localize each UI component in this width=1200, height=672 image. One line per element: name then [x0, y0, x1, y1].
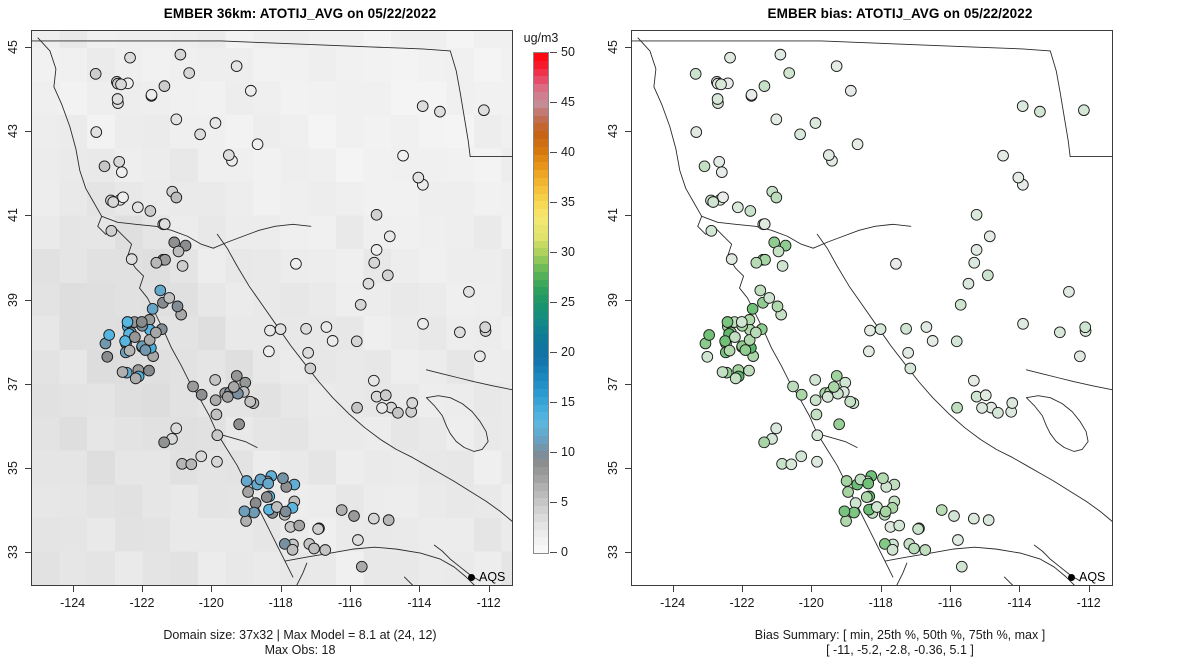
colorbar-tick: [550, 102, 557, 103]
aqs-station-marker[interactable]: [130, 373, 141, 384]
aqs-station-marker[interactable]: [454, 327, 465, 338]
aqs-station-marker[interactable]: [159, 219, 170, 230]
aqs-station-marker[interactable]: [108, 197, 119, 208]
aqs-station-marker[interactable]: [117, 367, 128, 378]
aqs-station-marker[interactable]: [1064, 286, 1075, 297]
colorbar-tick-label: 20: [561, 345, 575, 359]
aqs-station-marker[interactable]: [407, 398, 418, 409]
colorbar-cell: [534, 280, 548, 288]
aqs-station-marker[interactable]: [913, 524, 924, 535]
aqs-station-marker[interactable]: [352, 402, 363, 413]
aqs-station-marker[interactable]: [294, 520, 305, 531]
aqs-station-marker[interactable]: [1018, 318, 1029, 329]
aqs-station-marker[interactable]: [196, 389, 207, 400]
aqs-station-marker[interactable]: [164, 293, 175, 304]
aqs-station-marker[interactable]: [261, 492, 272, 503]
aqs-station-marker[interactable]: [773, 246, 784, 257]
aqs-station-marker[interactable]: [122, 317, 133, 328]
aqs-station-marker[interactable]: [971, 245, 982, 256]
aqs-station-marker[interactable]: [1017, 101, 1028, 112]
colorbar-cell: [534, 498, 548, 506]
x-tick-label: -118: [869, 596, 893, 610]
aqs-station-marker[interactable]: [998, 150, 1009, 161]
y-tick: [25, 384, 31, 385]
colorbar-cell: [534, 108, 548, 116]
aqs-station-marker[interactable]: [775, 49, 786, 60]
x-tick: [1089, 586, 1090, 592]
aqs-station-marker[interactable]: [132, 202, 143, 213]
aqs-station-marker[interactable]: [234, 419, 245, 430]
aqs-station-marker[interactable]: [384, 231, 395, 242]
panel-model: EMBER 36km: ATOTIJ_AVG on 05/22/2022: [0, 0, 600, 672]
colorbar-cell: [534, 147, 548, 155]
aqs-station-marker[interactable]: [878, 473, 889, 484]
aqs-station-marker[interactable]: [309, 543, 320, 554]
aqs-station-marker[interactable]: [725, 52, 736, 63]
aqs-station-marker[interactable]: [380, 390, 391, 401]
y-tick: [25, 131, 31, 132]
aqs-station-marker[interactable]: [355, 299, 366, 310]
aqs-station-marker[interactable]: [353, 535, 364, 546]
colorbar-cell: [534, 319, 548, 327]
aqs-station-marker[interactable]: [116, 167, 127, 178]
y-tick: [625, 47, 631, 48]
aqs-station-marker[interactable]: [241, 476, 252, 487]
aqs-station-marker[interactable]: [812, 456, 823, 467]
aqs-station-marker[interactable]: [369, 257, 380, 268]
aqs-station-marker[interactable]: [744, 365, 755, 376]
x-tick-label: -118: [269, 596, 293, 610]
aqs-station-marker[interactable]: [435, 106, 446, 117]
aqs-station-marker[interactable]: [691, 127, 702, 138]
aqs-station-marker[interactable]: [125, 52, 136, 63]
aqs-station-marker[interactable]: [195, 129, 206, 140]
aqs-station-marker[interactable]: [841, 516, 852, 527]
aqs-station-marker[interactable]: [903, 347, 914, 358]
aqs-station-marker[interactable]: [211, 409, 222, 420]
aqs-station-marker[interactable]: [464, 286, 475, 297]
x-tick-label: -120: [199, 596, 224, 610]
aqs-station-marker[interactable]: [263, 346, 274, 357]
aqs-station-marker[interactable]: [747, 303, 758, 314]
aqs-station-marker[interactable]: [751, 327, 762, 338]
colorbar-cell: [534, 272, 548, 280]
aqs-station-marker[interactable]: [321, 322, 332, 333]
aqs-station-marker[interactable]: [823, 150, 834, 161]
aqs-station-marker[interactable]: [250, 498, 261, 509]
x-tick-label: -124: [660, 596, 685, 610]
aqs-station-marker[interactable]: [716, 79, 727, 90]
aqs-station-marker[interactable]: [702, 351, 713, 362]
aqs-station-marker[interactable]: [865, 325, 876, 336]
aqs-station-marker[interactable]: [905, 363, 916, 374]
aqs-station-marker[interactable]: [811, 409, 822, 420]
aqs-station-marker[interactable]: [810, 395, 821, 406]
aqs-station-marker[interactable]: [880, 506, 891, 517]
aqs-station-marker[interactable]: [222, 391, 233, 402]
colorbar-cell: [534, 326, 548, 334]
aqs-station-marker[interactable]: [706, 225, 717, 236]
aqs-station-marker[interactable]: [843, 487, 854, 498]
aqs-station-marker[interactable]: [772, 301, 783, 312]
aqs-station-marker[interactable]: [245, 85, 256, 96]
aqs-station-markers-model[interactable]: [32, 31, 512, 585]
colorbar-cell: [534, 545, 548, 553]
aqs-station-marker[interactable]: [952, 402, 963, 413]
aqs-station-marker[interactable]: [210, 375, 221, 386]
aqs-station-marker[interactable]: [291, 258, 302, 269]
aqs-station-marker[interactable]: [320, 545, 331, 556]
aqs-station-marker[interactable]: [699, 161, 710, 172]
aqs-station-marker[interactable]: [712, 94, 723, 105]
aqs-station-marker[interactable]: [371, 245, 382, 256]
aqs-station-marker[interactable]: [852, 139, 863, 150]
aqs-station-marker[interactable]: [828, 382, 839, 393]
colorbar-tick: [550, 302, 557, 303]
aqs-station-marker[interactable]: [759, 219, 770, 230]
y-tick: [25, 552, 31, 553]
aqs-station-marker[interactable]: [1007, 398, 1018, 409]
aqs-station-marker[interactable]: [212, 456, 223, 467]
colorbar-tick-label: 30: [561, 245, 575, 259]
aqs-station-marker[interactable]: [159, 81, 170, 92]
aqs-station-marker[interactable]: [155, 285, 166, 296]
colorbar-model-title: ug/m3: [524, 31, 559, 45]
aqs-station-marker[interactable]: [196, 451, 207, 462]
aqs-station-marker[interactable]: [891, 258, 902, 269]
aqs-station-marker[interactable]: [151, 327, 162, 338]
y-tick-label: 43: [6, 124, 20, 138]
aqs-station-marker[interactable]: [736, 317, 747, 328]
aqs-station-marker[interactable]: [480, 322, 491, 333]
x-tick: [281, 586, 282, 592]
aqs-station-marker[interactable]: [249, 507, 260, 518]
aqs-station-marker[interactable]: [909, 543, 920, 554]
aqs-station-marker[interactable]: [140, 345, 151, 356]
aqs-station-marker[interactable]: [349, 511, 360, 522]
aqs-station-marker[interactable]: [301, 323, 312, 334]
aqs-station-marker[interactable]: [977, 403, 988, 414]
aqs-station-marker[interactable]: [136, 317, 147, 328]
aqs-station-marker[interactable]: [1013, 172, 1024, 183]
aqs-station-marker[interactable]: [936, 505, 947, 516]
aqs-station-marker[interactable]: [722, 317, 733, 328]
aqs-station-marker[interactable]: [784, 68, 795, 79]
aqs-station-marker[interactable]: [708, 197, 719, 208]
aqs-station-marker[interactable]: [812, 430, 823, 441]
aqs-station-marker[interactable]: [151, 257, 162, 268]
aqs-station-marker[interactable]: [849, 507, 860, 518]
colorbar-cell: [534, 295, 548, 303]
x-tick: [811, 586, 812, 592]
y-tick: [625, 468, 631, 469]
aqs-station-marker[interactable]: [875, 324, 886, 335]
aqs-station-marker[interactable]: [984, 231, 995, 242]
colorbar-cell: [534, 381, 548, 389]
aqs-station-marker[interactable]: [239, 506, 250, 517]
aqs-station-marker[interactable]: [969, 257, 980, 268]
aqs-station-marker[interactable]: [863, 478, 874, 489]
aqs-station-marker[interactable]: [243, 487, 254, 498]
aqs-station-marker[interactable]: [368, 375, 379, 386]
aqs-station-marker[interactable]: [730, 373, 741, 384]
plot-area-bias: [631, 30, 1113, 586]
aqs-station-marker[interactable]: [278, 473, 289, 484]
aqs-station-marker[interactable]: [146, 89, 157, 100]
aqs-station-marker[interactable]: [188, 381, 199, 392]
aqs-station-marker[interactable]: [418, 318, 429, 329]
aqs-station-marker[interactable]: [99, 161, 110, 172]
aqs-station-marker[interactable]: [1035, 106, 1046, 117]
aqs-station-marker[interactable]: [755, 285, 766, 296]
aqs-station-marker[interactable]: [116, 79, 127, 90]
aqs-station-marker[interactable]: [963, 278, 974, 289]
colorbar-cell: [534, 483, 548, 491]
aqs-station-marker[interactable]: [368, 513, 379, 524]
aqs-station-marker[interactable]: [971, 209, 982, 220]
aqs-station-marker[interactable]: [303, 347, 314, 358]
aqs-station-marker[interactable]: [771, 192, 782, 203]
aqs-station-marker[interactable]: [118, 192, 129, 203]
aqs-station-marker[interactable]: [478, 105, 489, 116]
plot-area-model: [31, 30, 513, 586]
aqs-station-marker[interactable]: [980, 390, 991, 401]
aqs-station-marker[interactable]: [822, 391, 833, 402]
aqs-station-marker[interactable]: [363, 278, 374, 289]
y-tick-label: 33: [606, 545, 620, 559]
aqs-station-marker[interactable]: [953, 535, 964, 546]
aqs-station-marker[interactable]: [796, 451, 807, 462]
aqs-station-marker[interactable]: [983, 515, 994, 526]
aqs-station-marker[interactable]: [90, 68, 101, 79]
aqs-station-marker[interactable]: [382, 270, 393, 281]
colorbar-cell: [534, 491, 548, 499]
aqs-station-marker[interactable]: [949, 511, 960, 522]
caption-model-line1: Domain size: 37x32 | Max Model = 8.1 at …: [0, 628, 600, 643]
aqs-station-marker[interactable]: [1054, 327, 1065, 338]
aqs-station-marker[interactable]: [716, 167, 727, 178]
aqs-station-marker[interactable]: [212, 430, 223, 441]
aqs-station-marker[interactable]: [144, 365, 155, 376]
aqs-station-marker[interactable]: [91, 127, 102, 138]
aqs-station-marker[interactable]: [356, 561, 367, 572]
aqs-station-marker[interactable]: [861, 492, 872, 503]
aqs-station-marker[interactable]: [173, 246, 184, 257]
aqs-station-marker[interactable]: [751, 257, 762, 268]
x-tick: [1019, 586, 1020, 592]
colorbar-tick-label: 5: [561, 495, 568, 509]
aqs-station-marker[interactable]: [982, 270, 993, 281]
colorbar-cell: [534, 459, 548, 467]
aqs-station-marker[interactable]: [956, 561, 967, 572]
aqs-station-marker[interactable]: [124, 345, 135, 356]
caption-bias: Bias Summary: [ min, 25th %, 50th %, 75t…: [600, 628, 1200, 658]
aqs-station-marker[interactable]: [955, 299, 966, 310]
y-tick-label: 45: [606, 40, 620, 54]
aqs-station-marker[interactable]: [106, 225, 117, 236]
colorbar-cell: [534, 139, 548, 147]
x-tick: [211, 586, 212, 592]
aqs-station-marker[interactable]: [245, 396, 256, 407]
aqs-station-marker[interactable]: [102, 351, 113, 362]
y-tick-label: 39: [6, 293, 20, 307]
aqs-station-marker[interactable]: [726, 254, 737, 265]
aqs-station-marker[interactable]: [1078, 105, 1089, 116]
colorbar-cell: [534, 436, 548, 444]
colorbar-tick-label: 35: [561, 195, 575, 209]
aqs-station-marker[interactable]: [175, 49, 186, 60]
aqs-station-marker[interactable]: [894, 520, 905, 531]
aqs-station-marker[interactable]: [901, 323, 912, 334]
aqs-station-marker[interactable]: [845, 396, 856, 407]
aqs-station-marker[interactable]: [831, 61, 842, 72]
colorbar-tick-label: 45: [561, 95, 575, 109]
aqs-station-marker[interactable]: [745, 206, 756, 217]
colorbar-cell: [534, 397, 548, 405]
aqs-station-marker[interactable]: [850, 498, 861, 509]
aqs-station-marker[interactable]: [845, 85, 856, 96]
aqs-station-marker[interactable]: [112, 94, 123, 105]
aqs-station-marker[interactable]: [186, 459, 197, 470]
colorbar-cell: [534, 506, 548, 514]
aqs-station-marker[interactable]: [114, 156, 125, 167]
aqs-station-markers-bias[interactable]: [632, 31, 1112, 585]
aqs-station-marker[interactable]: [993, 407, 1004, 418]
aqs-station-marker[interactable]: [786, 459, 797, 470]
colorbar-cell: [534, 76, 548, 84]
aqs-station-marker[interactable]: [147, 303, 158, 314]
aqs-station-marker[interactable]: [920, 545, 931, 556]
y-tick: [625, 300, 631, 301]
aqs-station-marker[interactable]: [839, 506, 850, 517]
aqs-station-marker[interactable]: [130, 332, 141, 343]
x-tick: [673, 586, 674, 592]
aqs-station-marker[interactable]: [417, 101, 428, 112]
aqs-station-marker[interactable]: [280, 506, 291, 517]
aqs-station-marker[interactable]: [184, 68, 195, 79]
y-tick: [625, 552, 631, 553]
aqs-station-marker[interactable]: [327, 336, 338, 347]
aqs-station-marker[interactable]: [413, 172, 424, 183]
aqs-station-marker[interactable]: [714, 156, 725, 167]
aqs-station-marker[interactable]: [746, 89, 757, 100]
aqs-station-marker[interactable]: [210, 395, 221, 406]
colorbar-cell: [534, 451, 548, 459]
colorbar-tick-label: 40: [561, 145, 575, 159]
aqs-station-marker[interactable]: [717, 367, 728, 378]
aqs-station-marker[interactable]: [313, 524, 324, 535]
y-tick-label: 35: [6, 461, 20, 475]
aqs-station-marker[interactable]: [171, 423, 182, 434]
aqs-station-marker[interactable]: [759, 81, 770, 92]
aqs-station-marker[interactable]: [771, 114, 782, 125]
aqs-station-marker[interactable]: [690, 68, 701, 79]
aqs-station-marker[interactable]: [393, 407, 404, 418]
aqs-station-marker[interactable]: [732, 202, 743, 213]
aqs-station-marker[interactable]: [777, 261, 788, 272]
aqs-station-marker[interactable]: [788, 381, 799, 392]
x-tick-label: -120: [799, 596, 824, 610]
aqs-station-marker[interactable]: [704, 330, 715, 341]
aqs-station-marker[interactable]: [810, 118, 821, 129]
aqs-station-marker[interactable]: [171, 192, 182, 203]
colorbar-cell: [534, 225, 548, 233]
aqs-station-marker[interactable]: [252, 139, 263, 150]
aqs-station-marker[interactable]: [927, 336, 938, 347]
aqs-station-marker[interactable]: [764, 293, 775, 304]
aqs-station-marker[interactable]: [228, 382, 239, 393]
aqs-station-marker[interactable]: [921, 322, 932, 333]
aqs-station-marker[interactable]: [351, 336, 362, 347]
aqs-station-marker[interactable]: [1074, 351, 1085, 362]
aqs-station-marker[interactable]: [1080, 322, 1091, 333]
aqs-station-marker[interactable]: [796, 389, 807, 400]
aqs-station-marker[interactable]: [795, 129, 806, 140]
colorbar-cell: [534, 162, 548, 170]
aqs-station-marker[interactable]: [263, 478, 274, 489]
aqs-station-marker[interactable]: [724, 345, 735, 356]
colorbar-cell: [534, 170, 548, 178]
y-tick: [25, 300, 31, 301]
aqs-station-marker[interactable]: [336, 505, 347, 516]
colorbar-tick: [550, 252, 557, 253]
aqs-station-marker[interactable]: [275, 324, 286, 335]
aqs-station-marker[interactable]: [377, 403, 388, 414]
aqs-station-marker[interactable]: [887, 544, 898, 555]
aqs-station-marker[interactable]: [730, 332, 741, 343]
aqs-station-marker[interactable]: [231, 61, 242, 72]
aqs-station-marker[interactable]: [210, 118, 221, 129]
y-tick: [625, 384, 631, 385]
colorbar-cell: [534, 186, 548, 194]
aqs-station-marker[interactable]: [398, 150, 409, 161]
aqs-station-marker[interactable]: [759, 437, 770, 448]
aqs-station-marker[interactable]: [968, 375, 979, 386]
aqs-station-marker[interactable]: [104, 330, 115, 341]
aqs-station-marker[interactable]: [287, 544, 298, 555]
colorbar-cell: [534, 84, 548, 92]
aqs-station-marker[interactable]: [241, 516, 252, 527]
aqs-station-marker[interactable]: [177, 261, 188, 272]
aqs-station-marker[interactable]: [383, 515, 394, 526]
x-tick-label: -112: [477, 596, 501, 610]
aqs-station-marker[interactable]: [126, 254, 137, 265]
y-tick-label: 37: [606, 377, 620, 391]
aqs-station-marker[interactable]: [223, 150, 234, 161]
colorbar-cell: [534, 420, 548, 428]
colorbar-cell: [534, 287, 548, 295]
aqs-station-marker[interactable]: [474, 351, 485, 362]
aqs-station-marker[interactable]: [371, 209, 382, 220]
aqs-station-marker[interactable]: [172, 301, 183, 312]
aqs-station-marker[interactable]: [810, 375, 821, 386]
aqs-station-marker[interactable]: [718, 192, 729, 203]
aqs-station-marker[interactable]: [968, 513, 979, 524]
aqs-station-marker[interactable]: [841, 476, 852, 487]
aqs-station-marker[interactable]: [951, 336, 962, 347]
aqs-station-marker[interactable]: [159, 437, 170, 448]
aqs-station-marker[interactable]: [171, 114, 182, 125]
aqs-station-marker[interactable]: [740, 345, 751, 356]
aqs-station-marker[interactable]: [145, 206, 156, 217]
aqs-station-marker[interactable]: [265, 325, 276, 336]
colorbar-cell: [534, 209, 548, 217]
aqs-station-marker[interactable]: [305, 363, 316, 374]
aqs-station-marker[interactable]: [771, 423, 782, 434]
aqs-station-marker[interactable]: [863, 346, 874, 357]
aqs-legend-label: AQS: [479, 570, 505, 584]
aqs-station-marker[interactable]: [834, 419, 845, 430]
